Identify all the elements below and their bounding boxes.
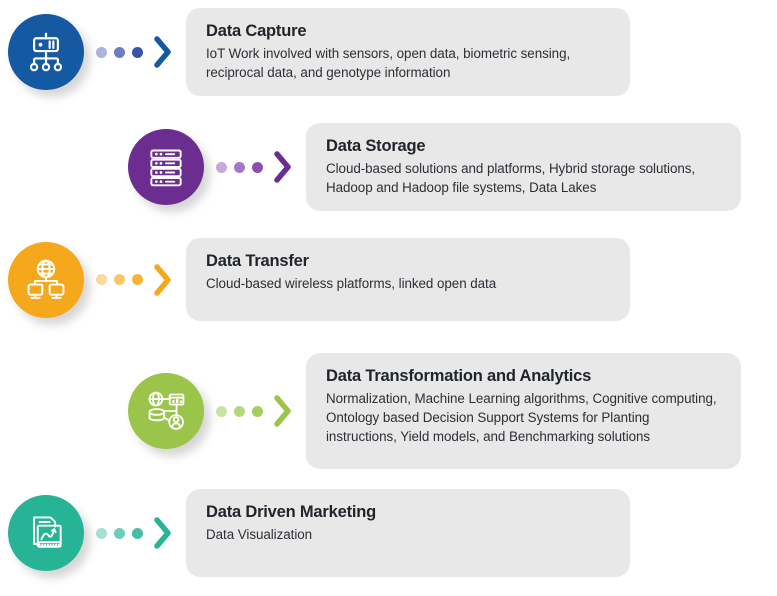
- step-icon-wrapper: [8, 495, 84, 571]
- step-icon-wrapper: [128, 129, 204, 205]
- data-analytics-network-icon: [144, 389, 188, 433]
- step-title: Data Transformation and Analytics: [326, 366, 721, 387]
- step-title: Data Capture: [206, 21, 610, 42]
- progress-dot: [114, 528, 125, 539]
- step-description: Normalization, Machine Learning algorith…: [326, 389, 721, 446]
- server-rack-icon: [144, 145, 188, 189]
- progress-dot: [96, 528, 107, 539]
- step-description: Cloud-based solutions and platforms, Hyb…: [326, 159, 721, 197]
- step-icon-circle: [8, 242, 84, 318]
- progress-dot: [234, 162, 245, 173]
- progress-dot: [252, 406, 263, 417]
- step-description: IoT Work involved with sensors, open dat…: [206, 44, 610, 82]
- progress-dot: [216, 406, 227, 417]
- globe-network-icon: [24, 258, 68, 302]
- step-connector: [96, 35, 174, 69]
- step-icon-wrapper: [8, 242, 84, 318]
- step-icon-circle: [128, 129, 204, 205]
- step-icon-circle: [8, 495, 84, 571]
- step-panel: Data Transfer Cloud-based wireless platf…: [186, 238, 630, 321]
- progress-dot: [114, 274, 125, 285]
- progress-dot: [132, 47, 143, 58]
- progress-dot: [216, 162, 227, 173]
- step-icon-wrapper: [128, 373, 204, 449]
- step-icon-circle: [128, 373, 204, 449]
- progress-dot: [114, 47, 125, 58]
- process-step-row: Data Storage Cloud-based solutions and p…: [128, 123, 741, 211]
- chevron-right-icon: [272, 150, 294, 184]
- process-step-row: Data Capture IoT Work involved with sens…: [8, 8, 630, 96]
- chevron-right-icon: [272, 394, 294, 428]
- step-title: Data Storage: [326, 136, 721, 157]
- step-connector: [216, 150, 294, 184]
- sensor-hub-icon: [24, 30, 68, 74]
- step-panel: Data Storage Cloud-based solutions and p…: [306, 123, 741, 211]
- chevron-right-icon: [152, 516, 174, 550]
- chevron-right-icon: [152, 263, 174, 297]
- step-panel: Data Transformation and Analytics Normal…: [306, 353, 741, 469]
- progress-dot: [96, 274, 107, 285]
- process-step-row: Data Transfer Cloud-based wireless platf…: [8, 238, 630, 321]
- step-connector: [96, 516, 174, 550]
- step-title: Data Driven Marketing: [206, 502, 610, 523]
- step-icon-wrapper: [8, 14, 84, 90]
- progress-dot: [234, 406, 245, 417]
- step-title: Data Transfer: [206, 251, 610, 272]
- step-connector: [96, 263, 174, 297]
- step-panel: Data Driven Marketing Data Visualization: [186, 489, 630, 577]
- step-icon-circle: [8, 14, 84, 90]
- infographic-canvas: Data Capture IoT Work involved with sens…: [0, 0, 777, 596]
- progress-dot: [132, 274, 143, 285]
- step-connector: [216, 394, 294, 428]
- step-description: Data Visualization: [206, 525, 610, 544]
- progress-dot: [252, 162, 263, 173]
- step-panel: Data Capture IoT Work involved with sens…: [186, 8, 630, 96]
- progress-dot: [96, 47, 107, 58]
- progress-dot: [132, 528, 143, 539]
- process-step-row: Data Driven Marketing Data Visualization: [8, 489, 630, 577]
- report-chart-icon: [24, 511, 68, 555]
- process-step-row: Data Transformation and Analytics Normal…: [128, 353, 741, 469]
- chevron-right-icon: [152, 35, 174, 69]
- step-description: Cloud-based wireless platforms, linked o…: [206, 274, 610, 293]
